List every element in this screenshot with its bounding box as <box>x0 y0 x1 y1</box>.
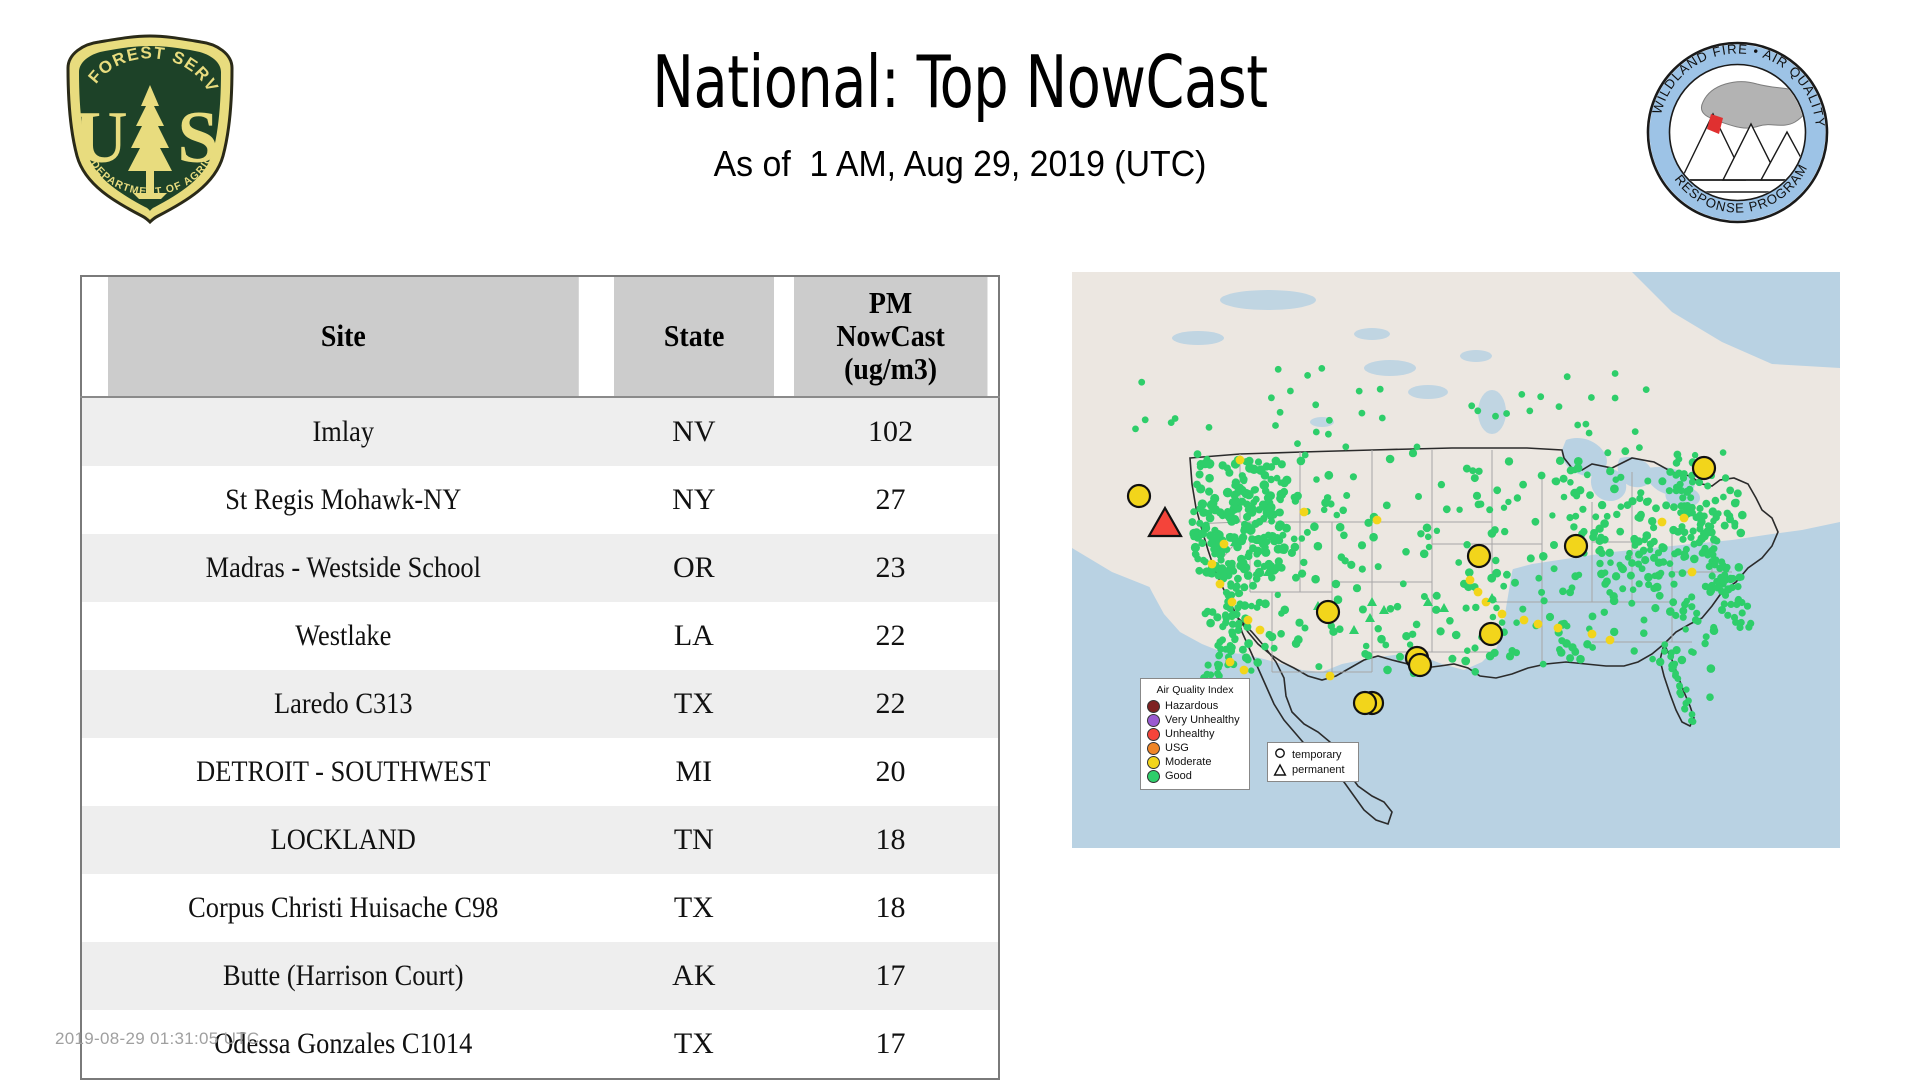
map-monitor-dot-good <box>1339 507 1347 515</box>
map-monitor-dot-good <box>1281 606 1290 615</box>
site-type-legend: temporary permanent <box>1267 742 1359 782</box>
map-monitor-dot-moderate <box>1240 666 1249 675</box>
map-monitor-dot-good <box>1271 645 1278 652</box>
map-monitor-dot-good <box>1315 663 1322 670</box>
map-monitor-dot-good <box>1672 612 1679 619</box>
map-monitor-dot-good <box>1604 513 1611 520</box>
triangle-icon <box>1273 763 1288 777</box>
map-monitor-dot-good <box>1731 523 1738 530</box>
map-monitor-dot-good <box>1204 671 1211 678</box>
map-monitor-dot-good <box>1584 471 1591 478</box>
cell-state: TX <box>605 874 783 942</box>
map-monitor-dot-good <box>1532 518 1540 526</box>
map-monitor-dot-good <box>1745 624 1752 631</box>
site-type-temporary-label: temporary <box>1292 748 1342 762</box>
map-monitor-dot-good <box>1469 467 1476 474</box>
table-row[interactable]: Butte (Harrison Court)AK17 <box>81 942 999 1010</box>
map-monitor-dot-good <box>1456 507 1462 513</box>
column-header-state[interactable]: State <box>614 276 774 397</box>
aqi-legend-item: USG <box>1147 741 1243 755</box>
map-monitor-dot-good <box>1261 599 1270 608</box>
map-monitor-dot-good <box>1201 523 1208 530</box>
map-monitor-dot-good <box>1686 486 1693 493</box>
map-monitor-dot-good <box>1658 477 1666 485</box>
map-monitor-dot-good <box>1313 429 1320 436</box>
map-monitor-dot-good <box>1690 555 1699 564</box>
map-monitor-dot-good <box>1707 523 1714 530</box>
map-monitor-dot-good <box>1706 693 1714 701</box>
map-monitor-dot-good <box>1711 561 1718 568</box>
map-monitor-dot-good <box>1720 562 1727 569</box>
map-monitor-dot-good <box>1256 465 1266 475</box>
map-monitor-dot-good <box>1433 592 1441 600</box>
cell-state: NV <box>605 397 783 466</box>
map-monitor-dot-good <box>1324 471 1333 480</box>
cell-pm-nowcast: 17 <box>783 1010 999 1079</box>
map-monitor-dot-good <box>1432 606 1440 614</box>
map-monitor-dot-good <box>1276 509 1284 517</box>
map-monitor-dot-good <box>1627 572 1635 580</box>
map-monitor-dot-good <box>1248 603 1255 610</box>
map-monitor-dot-good <box>1287 388 1294 395</box>
map-monitor-dot-good <box>1409 449 1417 457</box>
map-monitor-dot-good <box>1387 605 1395 613</box>
map-monitor-dot-good <box>1549 512 1555 518</box>
map-monitor-dot-good <box>1318 365 1325 372</box>
table-row[interactable]: Laredo C313TX22 <box>81 670 999 738</box>
map-monitor-dot-good <box>1574 457 1583 466</box>
map-monitor-dot-good <box>1477 501 1484 508</box>
map-monitor-dot-good <box>1557 648 1565 656</box>
aqi-legend-title: Air Quality Index <box>1147 684 1243 696</box>
map-monitor-dot-good <box>1710 545 1717 552</box>
map-monitor-dot-good <box>1690 528 1697 535</box>
map-monitor-dot-good <box>1538 472 1546 480</box>
map-monitor-dot-good <box>1501 528 1508 535</box>
map-monitor-dot-good <box>1253 658 1262 667</box>
map-monitor-dot-good <box>1539 552 1548 561</box>
map-monitor-dot-good <box>1414 444 1421 451</box>
map-monitor-dot-moderate <box>1588 630 1597 639</box>
map-monitor-dot-good <box>1720 449 1727 456</box>
map-monitor-dot-moderate <box>1256 626 1265 635</box>
map-monitor-dot-good <box>1556 403 1563 410</box>
map-monitor-dot-good <box>1631 647 1638 654</box>
map-monitor-dot-good <box>1231 636 1238 643</box>
map-monitor-dot-good <box>1375 563 1382 570</box>
map-monitor-dot-good <box>1576 486 1584 494</box>
map-monitor-dot-good <box>1299 535 1306 542</box>
map-monitor-dot-good <box>1656 658 1664 666</box>
map-monitor-dot-good <box>1321 507 1328 514</box>
map-monitor-dot-good <box>1527 554 1535 562</box>
map-monitor-dot-good <box>1678 691 1685 698</box>
svg-text:S: S <box>177 97 218 179</box>
map-monitor-dot-good <box>1196 484 1205 493</box>
map-monitor-dot-good <box>1202 610 1209 617</box>
map-monitor-dot-good <box>1658 543 1666 551</box>
map-monitor-dot-good <box>1342 443 1349 450</box>
map-monitor-dot-good <box>1252 536 1260 544</box>
map-monitor-dot-good <box>1234 575 1242 583</box>
map-monitor-dot-good <box>1644 573 1653 582</box>
map-monitor-dot-good <box>1739 609 1746 616</box>
map-monitor-dot-good <box>1610 597 1619 606</box>
map-monitor-dot-good <box>1292 639 1301 648</box>
map-monitor-dot-good <box>1214 670 1221 677</box>
map-monitor-dot-good <box>1601 580 1609 588</box>
map-monitor-dot-moderate <box>1226 658 1235 667</box>
map-monitor-dot-good <box>1266 491 1275 500</box>
map-monitor-dot-good <box>1195 567 1203 575</box>
map-monitor-dot-good <box>1601 536 1609 544</box>
column-header-pm-line2: NowCast <box>797 320 983 353</box>
map-monitor-dot-good <box>1472 604 1479 611</box>
map-monitor-dot-good <box>1499 619 1506 626</box>
map-monitor-dot-good <box>1420 550 1429 559</box>
map-monitor-dot-good <box>1550 541 1558 549</box>
table-row[interactable]: LOCKLANDTN18 <box>81 806 999 874</box>
map-monitor-dot-good <box>1268 633 1277 642</box>
map-monitor-dot-good <box>1332 580 1341 589</box>
map-monitor-dot-good <box>1235 627 1242 634</box>
map-monitor-dot-good <box>1684 502 1691 509</box>
map-monitor-dot-good <box>1679 607 1687 615</box>
cell-state: NY <box>605 466 783 534</box>
map-monitor-dot-good <box>1744 603 1751 610</box>
map-monitor-dot-moderate <box>1658 518 1667 527</box>
map-monitor-dot-good <box>1679 569 1687 577</box>
map-monitor-dot-good <box>1568 643 1576 651</box>
map-monitor-dot-good <box>1588 394 1595 401</box>
map-monitor-dot-good <box>1556 457 1564 465</box>
map-monitor-dot-moderate <box>1606 636 1615 645</box>
map-monitor-dot-moderate <box>1680 514 1689 523</box>
map-monitor-dot-good <box>1503 571 1511 579</box>
map-monitor-dot-good <box>1689 711 1696 718</box>
map-monitor-dot-good <box>1602 569 1609 576</box>
map-monitor-dot-good <box>1613 511 1620 518</box>
aqi-color-swatch-icon <box>1147 756 1160 769</box>
map-monitor-dot-good <box>1710 626 1719 635</box>
map-monitor-dot-good <box>1248 667 1254 673</box>
map-monitor-dot-moderate <box>1688 568 1697 577</box>
map-monitor-dot-good <box>1678 502 1685 509</box>
map-monitor-dot-good <box>1704 551 1711 558</box>
map-top-site-marker[interactable] <box>1317 601 1339 623</box>
table-row[interactable]: Corpus Christi Huisache C98TX18 <box>81 874 999 942</box>
map-monitor-dot-moderate <box>1466 576 1475 585</box>
map-monitor-dot-good <box>1295 619 1303 627</box>
map-monitor-dot-good <box>1656 592 1664 600</box>
map-monitor-dot-good <box>1275 592 1281 598</box>
map-monitor-dot-good <box>1486 652 1495 661</box>
map-monitor-dot-good <box>1437 627 1445 635</box>
map-monitor-dot-good <box>1138 379 1145 386</box>
map-monitor-dot-good <box>1733 499 1739 505</box>
map-monitor-dot-good <box>1700 530 1707 537</box>
map-monitor-dot-good <box>1702 545 1709 552</box>
map-monitor-dot-good <box>1592 513 1599 520</box>
air-quality-monitor-map[interactable]: Air Quality Index HazardousVery Unhealth… <box>1072 272 1840 848</box>
map-monitor-dot-good <box>1396 653 1404 661</box>
map-monitor-dot-good <box>1240 583 1248 591</box>
column-header-pm-line3: (ug/m3) <box>797 353 983 386</box>
map-monitor-dot-good <box>1661 648 1668 655</box>
aqi-legend-item: Very Unhealthy <box>1147 713 1243 727</box>
cell-pm-nowcast: 17 <box>783 942 999 1010</box>
map-monitor-dot-good <box>1190 533 1197 540</box>
map-monitor-dot-good <box>1501 505 1507 511</box>
map-monitor-dot-good <box>1643 386 1650 393</box>
map-monitor-dot-good <box>1566 654 1574 662</box>
map-monitor-dot-good <box>1685 697 1692 704</box>
map-monitor-dot-good <box>1279 543 1289 553</box>
map-monitor-dot-good <box>1613 476 1620 483</box>
map-monitor-dot-good <box>1249 582 1257 590</box>
map-monitor-dot-good <box>1540 661 1547 668</box>
map-monitor-dot-good <box>1694 618 1701 625</box>
map-monitor-dot-good <box>1325 431 1332 438</box>
column-header-pm-nowcast[interactable]: PM NowCast (ug/m3) <box>794 276 988 397</box>
map-monitor-dot-good <box>1189 518 1196 525</box>
map-monitor-dot-good <box>1570 523 1577 530</box>
map-monitor-dot-good <box>1514 494 1521 501</box>
map-monitor-dot-good <box>1425 534 1432 541</box>
map-monitor-dot-good <box>1254 560 1262 568</box>
map-monitor-dot-good <box>1621 447 1629 455</box>
map-top-site-marker[interactable] <box>1565 535 1587 557</box>
map-monitor-dot-good <box>1632 428 1639 435</box>
map-monitor-dot-good <box>1701 640 1708 647</box>
map-monitor-dot-good <box>1513 619 1520 626</box>
map-monitor-dot-good <box>1240 475 1248 483</box>
map-monitor-dot-good <box>1267 476 1274 483</box>
map-monitor-dot-good <box>1624 501 1632 509</box>
map-monitor-dot-moderate <box>1220 540 1229 549</box>
map-monitor-dot-good <box>1652 504 1660 512</box>
map-monitor-dot-good <box>1736 624 1743 631</box>
map-top-site-marker[interactable] <box>1480 623 1502 645</box>
map-monitor-dot-good <box>1737 529 1746 538</box>
map-monitor-dot-good <box>1661 641 1668 648</box>
map-monitor-dot-good <box>1359 410 1366 417</box>
cell-state: MI <box>605 738 783 806</box>
map-top-site-marker[interactable] <box>1354 692 1376 714</box>
map-monitor-dot-good <box>1618 503 1625 510</box>
map-monitor-dot-moderate <box>1236 456 1245 465</box>
table-header: Site State PM NowCast (ug/m3) <box>81 276 999 397</box>
map-monitor-dot-good <box>1595 548 1602 555</box>
map-monitor-dot-good <box>1463 541 1470 548</box>
aqi-color-swatch-icon <box>1147 728 1160 741</box>
map-monitor-dot-good <box>1734 583 1741 590</box>
map-monitor-dot-good <box>1650 524 1657 531</box>
cell-state: LA <box>605 602 783 670</box>
map-monitor-dot-good <box>1254 547 1263 556</box>
map-monitor-dot-good <box>1511 579 1519 587</box>
table-row[interactable]: ImlayNV102 <box>81 397 999 466</box>
map-monitor-dot-good <box>1647 547 1653 553</box>
aqi-legend-label: Hazardous <box>1165 700 1218 713</box>
map-monitor-dot-good <box>1252 520 1260 528</box>
aqi-legend-label: USG <box>1165 742 1189 755</box>
map-monitor-dot-good <box>1726 515 1734 523</box>
map-monitor-dot-good <box>1651 604 1659 612</box>
map-monitor-dot-good <box>1601 609 1608 616</box>
map-monitor-dot-good <box>1612 395 1619 402</box>
map-monitor-dot-good <box>1386 455 1395 464</box>
map-monitor-dot-good <box>1703 633 1710 640</box>
map-monitor-dot-good <box>1535 575 1542 582</box>
site-type-permanent: permanent <box>1273 762 1353 777</box>
cell-site: Madras - Westside School <box>112 534 573 602</box>
map-monitor-dot-good <box>1400 580 1407 587</box>
map-monitor-dot-good <box>1559 588 1567 596</box>
cell-site: LOCKLAND <box>112 806 573 874</box>
map-monitor-dot-good <box>1641 556 1649 564</box>
map-monitor-dot-good <box>1471 644 1478 651</box>
map-monitor-dot-good <box>1219 623 1226 630</box>
map-monitor-dot-good <box>1242 653 1251 662</box>
map-monitor-dot-good <box>1471 668 1479 676</box>
map-monitor-dot-good <box>1693 514 1700 521</box>
map-monitor-dot-good <box>1326 417 1333 424</box>
map-monitor-dot-moderate <box>1326 672 1335 681</box>
title-block: National: Top NowCast As of 1 AM, Aug 29… <box>300 45 1620 185</box>
map-monitor-dot-good <box>1231 497 1240 506</box>
map-monitor-dot-good <box>1734 489 1742 497</box>
map-monitor-dot-good <box>1701 513 1708 520</box>
map-monitor-dot-good <box>1471 474 1479 482</box>
map-monitor-dot-good <box>1692 452 1698 458</box>
map-monitor-dot-good <box>1194 450 1202 458</box>
map-monitor-dot-good <box>1234 604 1241 611</box>
map-monitor-dot-good <box>1455 559 1462 566</box>
map-monitor-dot-good <box>1735 563 1744 572</box>
map-monitor-dot-good <box>1321 498 1330 507</box>
map-monitor-dot-good <box>1589 613 1597 621</box>
map-monitor-dot-good <box>1690 649 1697 656</box>
table-row[interactable]: Madras - Westside SchoolOR23 <box>81 534 999 602</box>
map-monitor-dot-good <box>1383 666 1392 675</box>
map-monitor-dot-good <box>1464 647 1471 654</box>
map-monitor-dot-good <box>1336 523 1345 532</box>
table-body: ImlayNV102St Regis Mohawk-NYNY27Madras -… <box>81 397 999 1079</box>
map-monitor-dot-good <box>1210 546 1217 553</box>
map-monitor-dot-good <box>1244 639 1253 648</box>
map-monitor-dot-good <box>1693 610 1700 617</box>
cell-pm-nowcast: 102 <box>783 397 999 466</box>
cell-site: DETROIT - SOUTHWEST <box>112 738 573 806</box>
map-monitor-dot-good <box>1294 440 1301 447</box>
map-monitor-dot-good <box>1561 494 1568 501</box>
aqi-legend-label: Good <box>1165 770 1192 783</box>
map-monitor-dot-good <box>1172 415 1179 422</box>
map-monitor-dot-moderate <box>1373 516 1382 525</box>
map-monitor-dot-good <box>1364 519 1372 527</box>
cell-pm-nowcast: 18 <box>783 806 999 874</box>
map-monitor-dot-good <box>1219 461 1227 469</box>
map-monitor-dot-good <box>1230 568 1237 575</box>
map-monitor-dot-good <box>1248 504 1256 512</box>
map-monitor-dot-good <box>1713 537 1720 544</box>
cell-site: St Regis Mohawk-NY <box>112 466 573 534</box>
map-top-site-marker[interactable] <box>1468 545 1490 567</box>
map-monitor-dot-good <box>1244 490 1253 499</box>
map-monitor-dot-good <box>1721 522 1729 530</box>
table-row[interactable]: St Regis Mohawk-NYNY27 <box>81 466 999 534</box>
map-monitor-dot-good <box>1255 458 1262 465</box>
map-monitor-dot-good <box>1215 652 1222 659</box>
map-monitor-dot-good <box>1537 393 1544 400</box>
map-monitor-dot-good <box>1194 555 1201 562</box>
page-subtitle: As of 1 AM, Aug 29, 2019 (UTC) <box>340 143 1581 185</box>
map-monitor-dot-good <box>1526 408 1533 415</box>
map-monitor-dot-good <box>1606 589 1613 596</box>
map-monitor-dot-good <box>1356 388 1363 395</box>
map-top-site-marker[interactable] <box>1409 654 1431 676</box>
aqi-color-swatch-icon <box>1147 714 1160 727</box>
map-top-site-marker[interactable] <box>1128 485 1150 507</box>
map-monitor-dot-good <box>1566 514 1573 521</box>
map-monitor-dot-good <box>1583 421 1590 428</box>
map-monitor-dot-good <box>1636 444 1643 451</box>
map-monitor-dot-good <box>1413 621 1421 629</box>
map-monitor-dot-good <box>1500 583 1507 590</box>
table-row[interactable]: WestlakeLA22 <box>81 602 999 670</box>
map-monitor-dot-moderate <box>1534 620 1543 629</box>
map-monitor-dot-good <box>1683 626 1689 632</box>
map-monitor-dot-good <box>1503 410 1510 417</box>
map-monitor-dot-good <box>1359 566 1366 573</box>
map-monitor-dot-good <box>1310 522 1319 531</box>
map-monitor-dot-good <box>1474 407 1481 414</box>
column-header-site[interactable]: Site <box>107 276 578 397</box>
table-row[interactable]: DETROIT - SOUTHWESTMI20 <box>81 738 999 806</box>
map-monitor-dot-good <box>1259 501 1267 509</box>
map-monitor-dot-good <box>1645 498 1652 505</box>
map-monitor-dot-good <box>1220 573 1227 580</box>
map-monitor-dot-good <box>1142 416 1149 423</box>
map-monitor-dot-moderate <box>1554 624 1563 633</box>
map-monitor-dot-good <box>1255 568 1264 577</box>
map-monitor-dot-good <box>1702 500 1710 508</box>
cell-state: AK <box>605 942 783 1010</box>
map-monitor-dot-good <box>1353 584 1361 592</box>
map-monitor-dot-good <box>1579 506 1586 513</box>
map-monitor-dot-good <box>1311 575 1320 584</box>
map-monitor-dot-good <box>1446 617 1454 625</box>
cell-site: Westlake <box>112 602 573 670</box>
map-monitor-dot-good <box>1241 524 1249 532</box>
map-monitor-dot-good <box>1598 501 1606 509</box>
map-monitor-dot-good <box>1650 538 1657 545</box>
map-monitor-dot-good <box>1304 372 1311 379</box>
map-monitor-dot-good <box>1558 637 1565 644</box>
map-monitor-dot-good <box>1205 474 1214 483</box>
map-monitor-dot-good <box>1291 536 1298 543</box>
aqi-color-swatch-icon <box>1147 700 1160 713</box>
map-monitor-dot-good <box>1643 531 1652 540</box>
top-nowcast-table-container: Site State PM NowCast (ug/m3) ImlayNV102… <box>80 275 1000 1080</box>
map-monitor-dot-good <box>1712 497 1720 505</box>
map-top-site-marker[interactable] <box>1693 457 1715 479</box>
map-monitor-dot-good <box>1630 586 1637 593</box>
cell-pm-nowcast: 27 <box>783 466 999 534</box>
map-monitor-dot-good <box>1606 549 1614 557</box>
map-monitor-dot-good <box>1492 569 1501 578</box>
